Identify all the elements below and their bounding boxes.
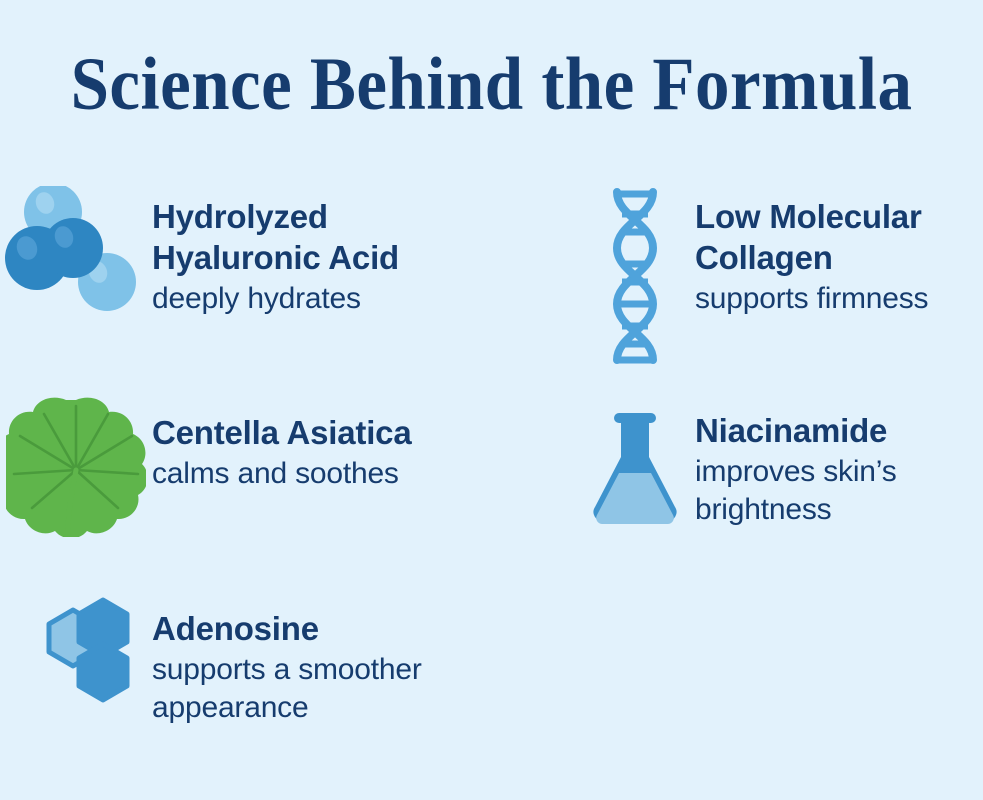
ingredient-description-line1: improves skin’s xyxy=(695,453,983,491)
ingredient-description: supports firmness xyxy=(695,280,983,318)
centella-leaf-icon xyxy=(0,392,152,537)
ingredient-item-centella-asiatica: Centella Asiatica calms and soothes xyxy=(0,392,500,537)
ingredient-name-line1: Hydrolyzed xyxy=(152,196,500,237)
ingredient-description-line2: brightness xyxy=(695,491,983,529)
ingredient-name-line2: Hyaluronic Acid xyxy=(152,237,500,278)
ingredient-description: calms and soothes xyxy=(152,455,500,493)
ingredient-item-hyaluronic-acid: Hydrolyzed Hyaluronic Acid deeply hydrat… xyxy=(0,186,500,318)
ingredient-name-line1: Adenosine xyxy=(152,608,520,649)
ingredient-text-hyaluronic-acid: Hydrolyzed Hyaluronic Acid deeply hydrat… xyxy=(152,186,500,318)
ingredient-text-adenosine: Adenosine supports a smoother appearance xyxy=(152,596,520,727)
ingredient-name-line1: Niacinamide xyxy=(695,410,983,451)
ingredient-description-line2: appearance xyxy=(152,689,520,727)
flask-icon xyxy=(575,404,695,534)
ingredient-text-niacinamide: Niacinamide improves skin’s brightness xyxy=(695,404,983,529)
ingredient-description: deeply hydrates xyxy=(152,280,500,318)
ingredient-item-adenosine: Adenosine supports a smoother appearance xyxy=(0,596,520,727)
infographic-page: Science Behind the Formula Hydrolyzed Hy… xyxy=(0,0,983,800)
hexagons-icon xyxy=(0,596,152,706)
ingredient-description-line1: supports a smoother xyxy=(152,651,520,689)
ingredient-name-line2: Collagen xyxy=(695,237,983,278)
ingredient-item-niacinamide: Niacinamide improves skin’s brightness xyxy=(575,404,983,534)
ingredient-name-line1: Centella Asiatica xyxy=(152,412,500,453)
dna-helix-icon xyxy=(575,186,695,371)
ingredient-text-low-molecular-collagen: Low Molecular Collagen supports firmness xyxy=(695,186,983,318)
page-title: Science Behind the Formula xyxy=(39,42,943,128)
molecule-icon xyxy=(0,186,152,316)
ingredient-item-low-molecular-collagen: Low Molecular Collagen supports firmness xyxy=(575,186,983,371)
ingredient-name-line1: Low Molecular xyxy=(695,196,983,237)
ingredient-text-centella-asiatica: Centella Asiatica calms and soothes xyxy=(152,392,500,493)
